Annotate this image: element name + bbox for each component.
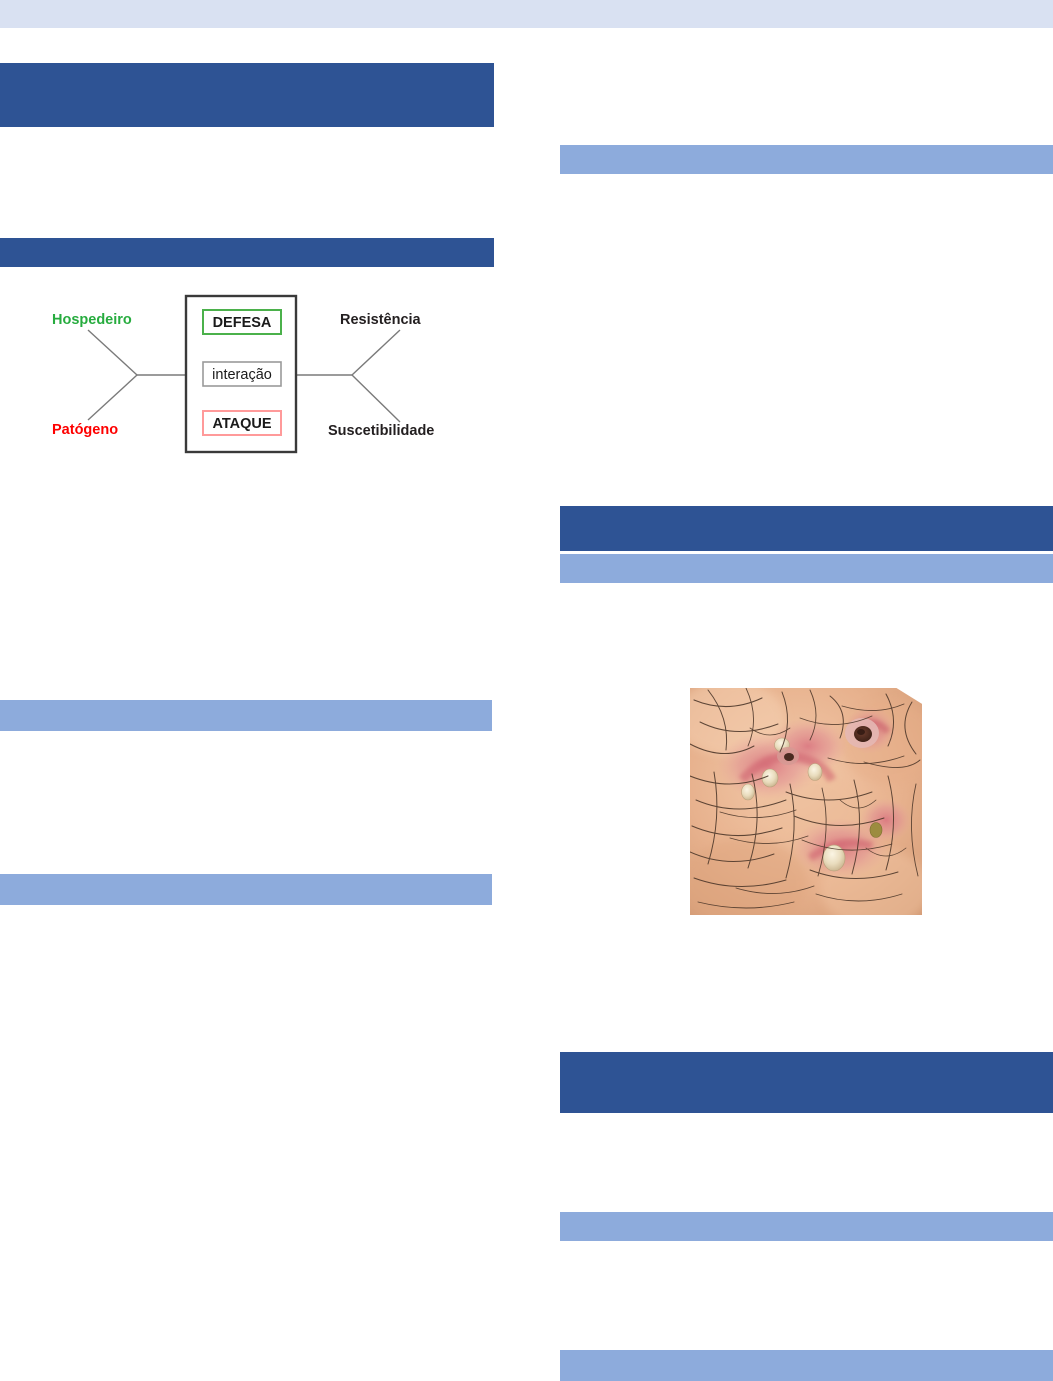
- top-header-band: [0, 0, 1053, 28]
- clinical-skin-lesion-photo: [690, 688, 922, 915]
- resistance-label: Resistência: [340, 312, 422, 328]
- pathogen-label: Patógeno: [52, 422, 118, 438]
- interaction-box-label: interação: [212, 367, 272, 383]
- left-body-bar-1: [0, 700, 492, 731]
- defense-box-label: DEFESA: [213, 315, 272, 331]
- right-body-bar-2: [560, 554, 1053, 583]
- left-heading-bar-1: [0, 63, 494, 127]
- left-heading-bar-2: [0, 238, 494, 267]
- host-connector-line: [88, 330, 137, 375]
- right-heading-bar-1: [560, 506, 1053, 551]
- attack-box-label: ATAQUE: [212, 416, 271, 432]
- susceptibility-connector-line: [352, 375, 400, 422]
- right-heading-bar-2: [560, 1052, 1053, 1113]
- right-body-bar-4: [560, 1350, 1053, 1381]
- resistance-connector-line: [352, 330, 400, 375]
- susceptibility-label: Suscetibilidade: [328, 423, 434, 439]
- host-label: Hospedeiro: [52, 312, 132, 328]
- right-body-bar-1: [560, 145, 1053, 174]
- right-body-bar-3: [560, 1212, 1053, 1241]
- left-body-bar-2: [0, 874, 492, 905]
- host-pathogen-interaction-diagram: DEFESA interação ATAQUE Hospedeiro Patóg…: [0, 282, 500, 467]
- pathogen-connector-line: [88, 375, 137, 420]
- document-page: DEFESA interação ATAQUE Hospedeiro Patóg…: [0, 0, 1053, 1381]
